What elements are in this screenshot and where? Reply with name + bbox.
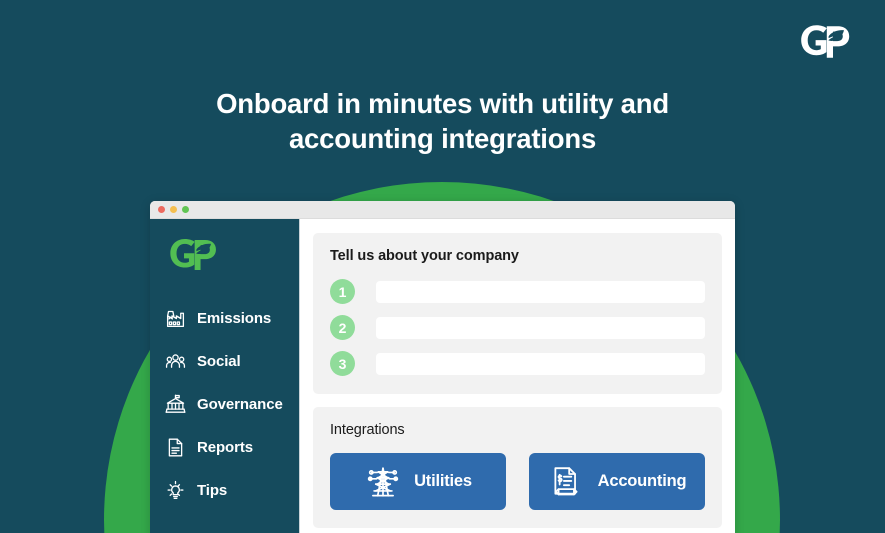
company-field-3[interactable]: [376, 353, 705, 375]
accounting-integration-button[interactable]: Accounting: [529, 453, 705, 510]
step-badge-2: 2: [330, 315, 355, 340]
maximize-dot[interactable]: [182, 206, 189, 213]
company-field-row-3: 3: [330, 351, 705, 376]
sidebar-item-tips[interactable]: Tips: [150, 469, 299, 512]
government-building-icon: [164, 394, 186, 416]
sidebar-item-reports[interactable]: Reports: [150, 426, 299, 469]
factory-icon: [164, 308, 186, 330]
sidebar-item-social[interactable]: Social: [150, 340, 299, 383]
integration-button-row: Utilities: [330, 453, 705, 510]
power-tower-icon: [364, 463, 401, 500]
sidebar-item-governance[interactable]: Governance: [150, 383, 299, 426]
window-body: Emissions Social: [150, 219, 735, 533]
company-card: Tell us about your company 1 2 3: [313, 233, 722, 394]
document-icon: [164, 437, 186, 459]
integrations-card-title: Integrations: [330, 422, 705, 438]
browser-window-mockup: Emissions Social: [150, 201, 735, 533]
sidebar-item-label: Governance: [197, 396, 283, 413]
step-badge-1: 1: [330, 279, 355, 304]
invoice-pencil-icon: [548, 463, 585, 500]
sidebar-item-label: Tips: [197, 482, 227, 499]
browser-titlebar: [150, 201, 735, 219]
close-dot[interactable]: [158, 206, 165, 213]
app-sidebar: Emissions Social: [150, 219, 300, 533]
sidebar-item-label: Social: [197, 353, 241, 370]
headline-line-1: Onboard in minutes with utility and: [0, 86, 885, 121]
integrations-card: Integrations: [313, 407, 722, 528]
accounting-label: Accounting: [598, 472, 687, 491]
minimize-dot[interactable]: [170, 206, 177, 213]
headline-line-2: accounting integrations: [0, 121, 885, 156]
app-content: Tell us about your company 1 2 3 Integra…: [300, 219, 735, 533]
utilities-label: Utilities: [414, 472, 472, 491]
people-group-icon: [164, 351, 186, 373]
utilities-integration-button[interactable]: Utilities: [330, 453, 506, 510]
company-field-row-2: 2: [330, 315, 705, 340]
sidebar-item-emissions[interactable]: Emissions: [150, 297, 299, 340]
sidebar-item-label: Reports: [197, 439, 253, 456]
company-card-title: Tell us about your company: [330, 248, 705, 264]
company-field-2[interactable]: [376, 317, 705, 339]
lightbulb-icon: [164, 480, 186, 502]
company-field-row-1: 1: [330, 279, 705, 304]
page-headline: Onboard in minutes with utility and acco…: [0, 86, 885, 156]
sidebar-item-label: Emissions: [197, 310, 271, 327]
step-badge-3: 3: [330, 351, 355, 376]
company-field-1[interactable]: [376, 281, 705, 303]
sidebar-logo[interactable]: [164, 236, 220, 274]
brand-logo: [796, 22, 852, 62]
